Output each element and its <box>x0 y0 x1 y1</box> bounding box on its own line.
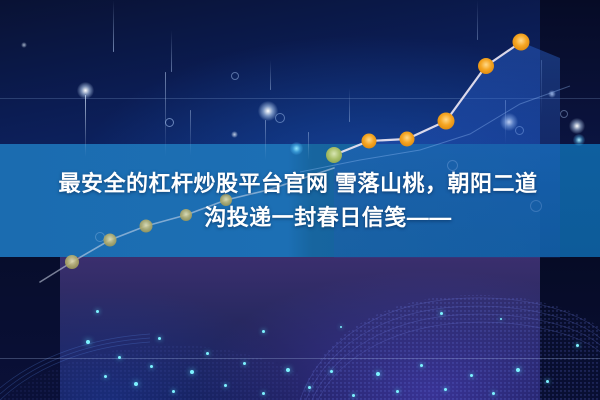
headline-text-block: 最安全的杠杆炒股平台官网 雪落山桃，朝阳二道 沟投递一封春日信笺—— <box>0 144 600 257</box>
data-point-marker <box>478 58 494 74</box>
sparkle-dot <box>104 375 107 378</box>
sparkle-dot <box>420 364 423 367</box>
sparkle-dot <box>262 330 265 333</box>
data-point-marker <box>438 113 455 130</box>
sparkle-dot <box>340 326 342 328</box>
sparkle-dot <box>224 384 227 387</box>
sparkle-dot <box>243 362 246 365</box>
data-point-marker <box>513 34 530 51</box>
headline-line-1: 最安全的杠杆炒股平台官网 雪落山桃，朝阳二道 <box>58 169 537 199</box>
sparkle-dot <box>492 392 495 395</box>
sparkle-dot <box>262 392 265 395</box>
sparkle-dot <box>86 340 90 344</box>
sparkle-dot <box>118 356 121 359</box>
sparkle-dot <box>500 318 502 320</box>
sparkle-dot <box>150 365 153 368</box>
sparkle-dot <box>286 368 290 372</box>
sparkle-dot <box>444 388 447 391</box>
sparkle-dot <box>158 337 161 340</box>
sparkle-dot <box>516 368 520 372</box>
sparkle-dot <box>376 372 380 376</box>
sparkle-dot <box>396 390 399 393</box>
sparkle-dot <box>352 394 355 397</box>
headline-line-2: 沟投递一封春日信笺—— <box>204 203 452 233</box>
sparkle-dot <box>546 380 549 383</box>
sparkle-dot <box>96 310 99 313</box>
sparkle-dot <box>172 390 175 393</box>
sparkle-dot <box>190 370 194 374</box>
sparkle-dot <box>576 344 579 347</box>
sparkle-dot <box>308 386 311 389</box>
banner-image: 最安全的杠杆炒股平台官网 雪落山桃，朝阳二道 沟投递一封春日信笺—— <box>0 0 600 400</box>
sparkle-dot <box>206 352 209 355</box>
sparkle-dot <box>330 370 333 373</box>
data-point-marker <box>65 255 79 269</box>
sparkle-dot <box>470 374 473 377</box>
sparkle-dot <box>134 382 138 386</box>
sparkle-dot <box>440 312 443 315</box>
